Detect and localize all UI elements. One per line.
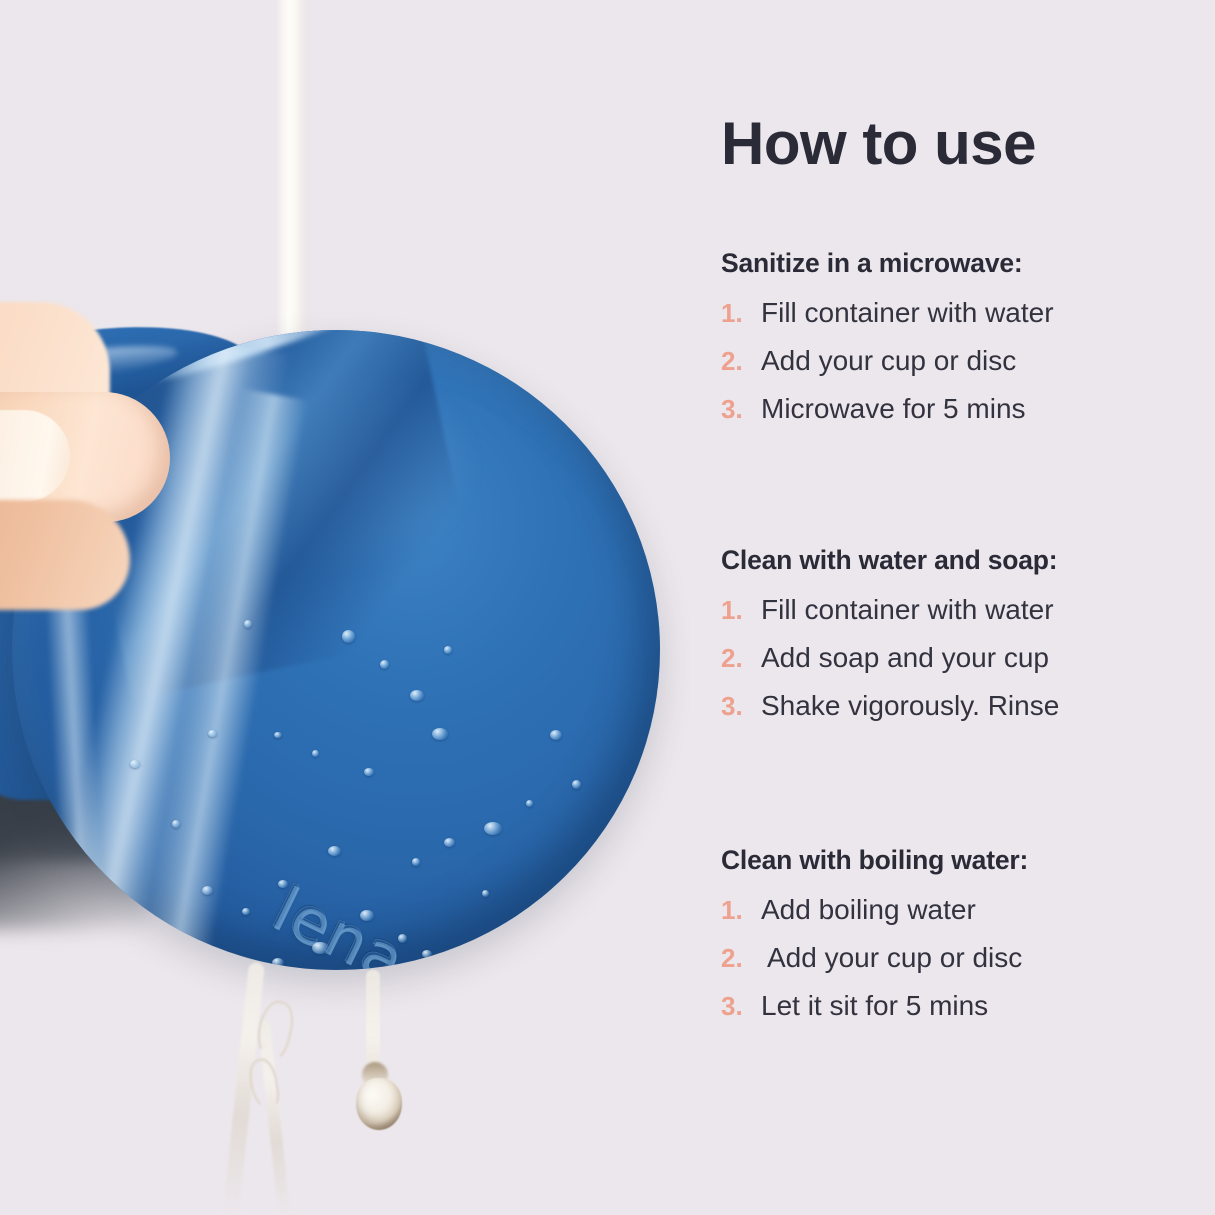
water-droplet xyxy=(272,958,284,967)
lower-finger xyxy=(0,500,130,610)
step-item: 3. Shake vigorously. Rinse xyxy=(721,692,1191,720)
pendant-drop-bulb xyxy=(356,1078,402,1130)
step-number: 3. xyxy=(721,396,761,422)
brand-logo-text: lena xyxy=(264,876,462,970)
step-number: 1. xyxy=(721,597,761,623)
water-droplet xyxy=(278,880,288,888)
water-droplet xyxy=(202,886,213,895)
step-item: 2. Add your cup or disc xyxy=(721,944,1191,972)
water-droplet xyxy=(422,950,432,958)
water-splash xyxy=(246,1056,283,1112)
step-number: 1. xyxy=(721,300,761,326)
step-text: Add boiling water xyxy=(761,896,976,924)
water-droplet xyxy=(526,800,533,807)
water-droplet xyxy=(380,660,389,669)
water-droplet xyxy=(130,760,140,768)
water-droplet xyxy=(328,846,341,856)
step-item: 1. Fill container with water xyxy=(721,299,1191,327)
step-text: Microwave for 5 mins xyxy=(761,395,1026,423)
section-heading: Clean with boiling water: xyxy=(721,845,1191,876)
step-number: 3. xyxy=(721,693,761,719)
section-heading: Sanitize in a microwave: xyxy=(721,248,1191,279)
section-heading: Clean with water and soap: xyxy=(721,545,1191,576)
water-droplet xyxy=(410,690,424,701)
step-text: Shake vigorously. Rinse xyxy=(761,692,1059,720)
section-clean-water-soap: Clean with water and soap: 1. Fill conta… xyxy=(721,545,1191,740)
water-droplet xyxy=(208,730,217,737)
step-number: 2. xyxy=(721,348,761,374)
step-list: 1. Fill container with water 2. Add soap… xyxy=(721,596,1191,720)
step-text: Fill container with water xyxy=(761,596,1054,624)
section-sanitize-microwave: Sanitize in a microwave: 1. Fill contain… xyxy=(721,248,1191,443)
step-number: 2. xyxy=(721,945,767,971)
water-droplet xyxy=(398,934,407,943)
step-item: 2. Add your cup or disc xyxy=(721,347,1191,375)
step-number: 2. xyxy=(721,645,761,671)
water-droplet xyxy=(162,930,171,937)
instructions-panel: How to use Sanitize in a microwave: 1. F… xyxy=(690,0,1215,1215)
step-item: 3. Let it sit for 5 mins xyxy=(721,992,1191,1020)
step-text: Add your cup or disc xyxy=(767,944,1022,972)
water-droplet xyxy=(244,620,252,628)
step-text: Let it sit for 5 mins xyxy=(761,992,988,1020)
step-text: Fill container with water xyxy=(761,299,1054,327)
step-list: 1. Fill container with water 2. Add your… xyxy=(721,299,1191,423)
water-droplet xyxy=(360,910,374,921)
water-droplet xyxy=(444,646,452,654)
water-droplet xyxy=(342,630,355,643)
water-droplet xyxy=(274,732,282,738)
water-droplet xyxy=(172,820,180,828)
water-droplet xyxy=(484,822,502,835)
step-item: 2. Add soap and your cup xyxy=(721,644,1191,672)
step-text: Add soap and your cup xyxy=(761,644,1049,672)
step-number: 1. xyxy=(721,897,761,923)
product-photo: lena xyxy=(0,0,690,1215)
water-droplet xyxy=(312,750,319,757)
water-droplet xyxy=(432,728,448,740)
water-droplet xyxy=(482,890,489,897)
water-droplet xyxy=(242,908,250,915)
thumbnail xyxy=(0,410,70,502)
step-item: 1. Fill container with water xyxy=(721,596,1191,624)
water-droplet xyxy=(572,780,581,789)
step-item: 3. Microwave for 5 mins xyxy=(721,395,1191,423)
water-droplet xyxy=(550,730,562,740)
water-droplet xyxy=(444,838,455,847)
page-root: lena xyxy=(0,0,1215,1215)
page-title: How to use xyxy=(721,112,1036,175)
step-number: 3. xyxy=(721,993,761,1019)
water-droplet xyxy=(412,858,420,866)
water-droplet xyxy=(364,768,374,776)
water-stream-icon xyxy=(276,0,308,350)
section-clean-boiling-water: Clean with boiling water: 1. Add boiling… xyxy=(721,845,1191,1040)
water-droplet xyxy=(312,942,329,954)
step-list: 1. Add boiling water 2. Add your cup or … xyxy=(721,896,1191,1020)
step-item: 1. Add boiling water xyxy=(721,896,1191,924)
step-text: Add your cup or disc xyxy=(761,347,1016,375)
